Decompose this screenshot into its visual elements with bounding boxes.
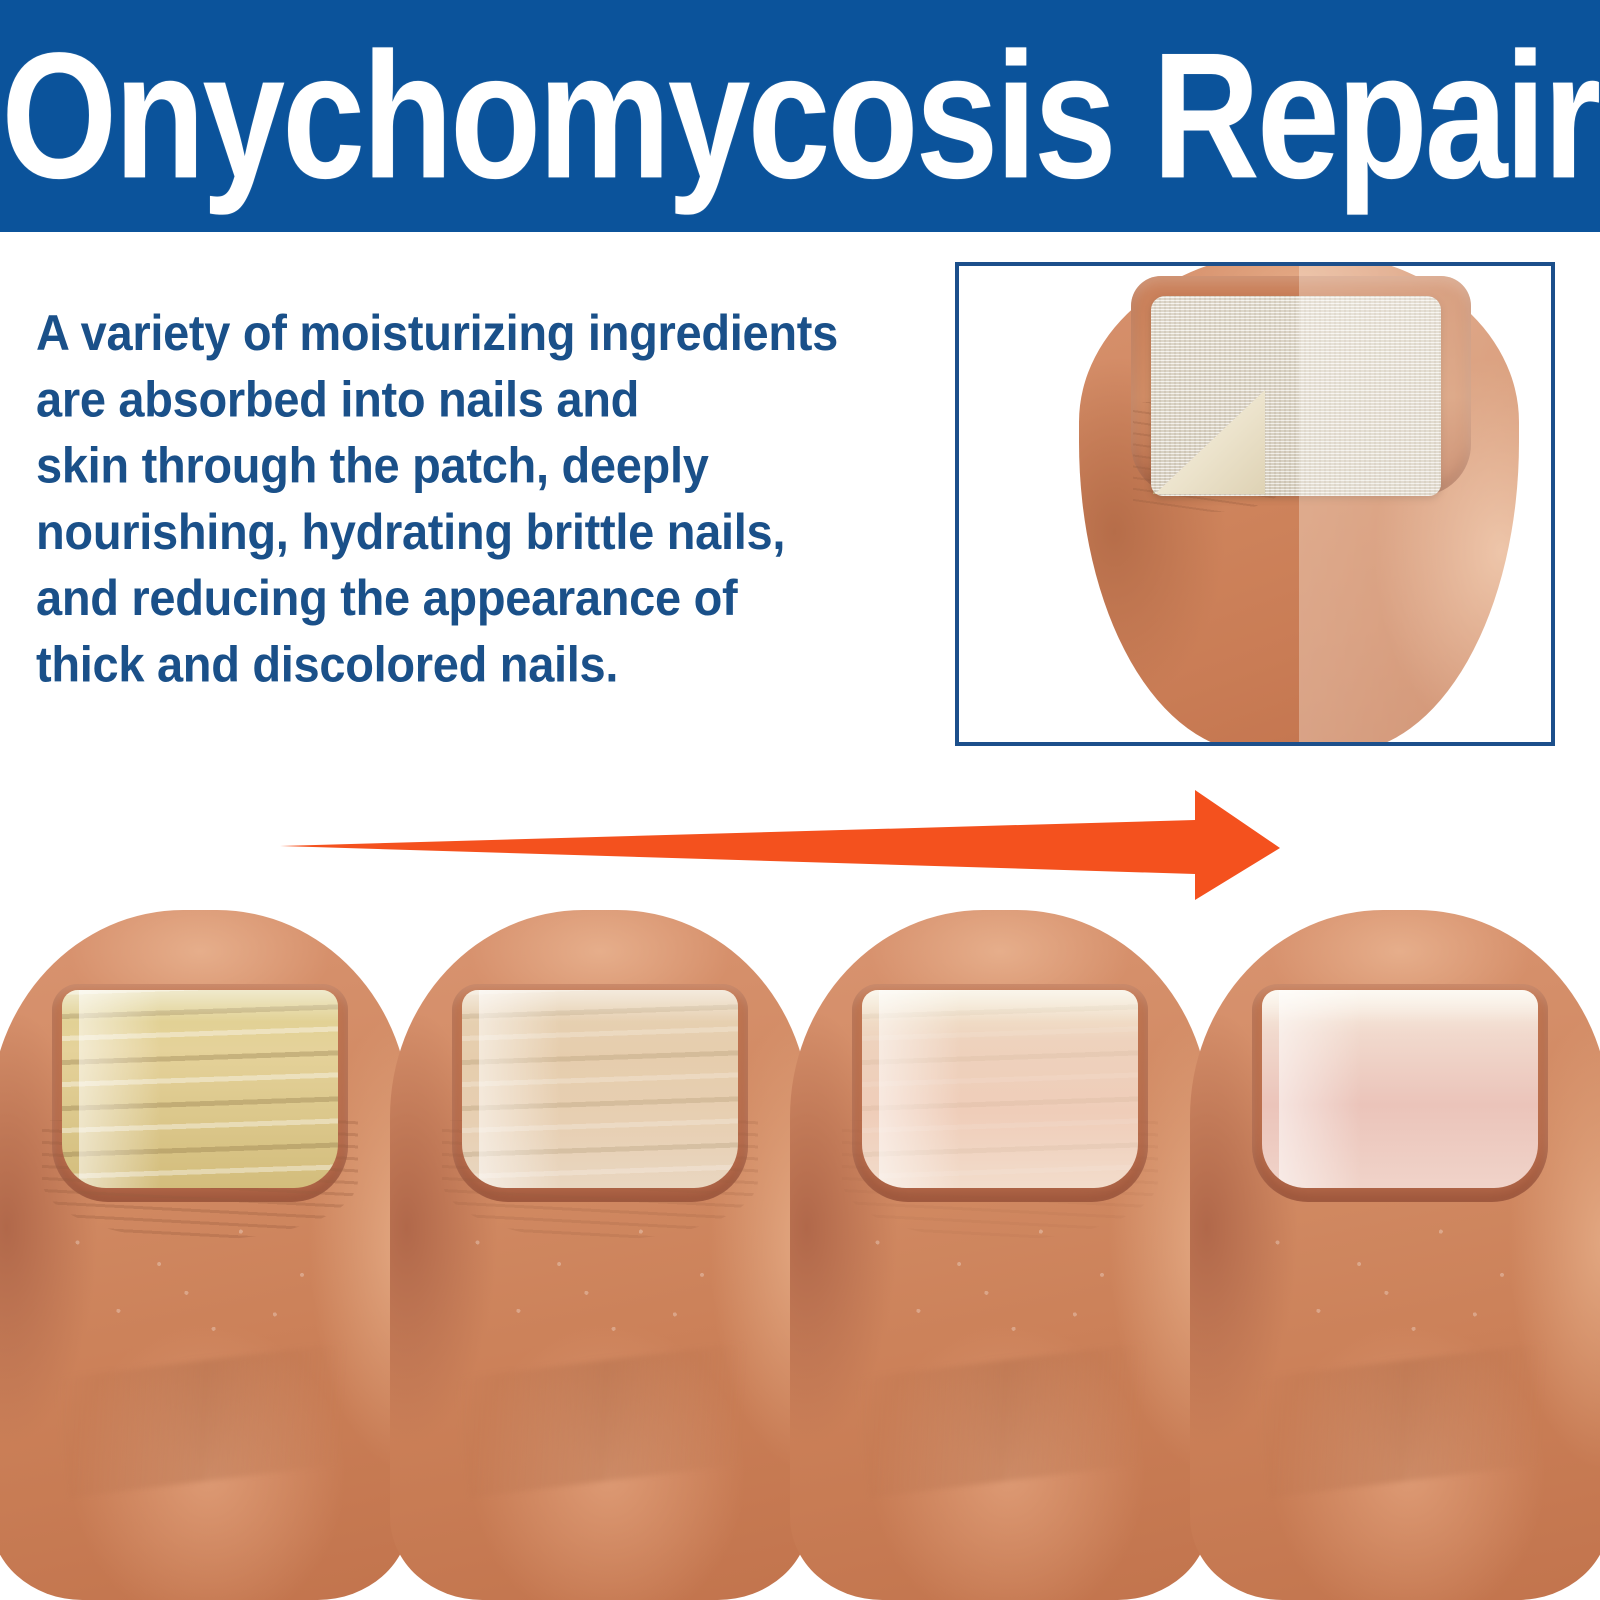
nail-top-edge <box>1262 990 1538 1022</box>
arrow-shape <box>280 790 1280 900</box>
toe-stage-1 <box>0 905 400 1600</box>
progression-arrow <box>280 782 1280 900</box>
header-banner: Onychomycosis Repair <box>0 0 1600 232</box>
before-after-split-overlay <box>1299 262 1555 746</box>
toe-illustration <box>1190 910 1600 1600</box>
progression-arrow-icon <box>280 782 1280 900</box>
description-line-6: thick and discolored nails. <box>36 631 916 697</box>
nail-plate <box>62 990 338 1188</box>
description-line-1: A variety of moisturizing ingredients <box>36 300 916 366</box>
description-line-3: skin through the patch, deeply <box>36 433 916 499</box>
description-block: A variety of moisturizing ingredients ar… <box>36 300 916 675</box>
nail-plate <box>462 990 738 1188</box>
toe-illustration <box>0 910 410 1600</box>
toe-illustration <box>390 910 810 1600</box>
nail-plate <box>1262 990 1538 1188</box>
nail-top-edge <box>62 990 338 1022</box>
toe-stage-4 <box>1200 905 1600 1600</box>
description-line-2: are absorbed into nails and <box>36 366 916 432</box>
description-line-4: nourishing, hydrating brittle nails, <box>36 499 916 565</box>
toe-stage-3 <box>800 905 1200 1600</box>
description-line-5: and reducing the appearance of <box>36 565 916 631</box>
description-text: A variety of moisturizing ingredients ar… <box>36 300 916 698</box>
toe-comparison-strip <box>0 905 1600 1600</box>
toenail-with-patch-illustration <box>1079 262 1555 746</box>
toe-illustration <box>790 910 1210 1600</box>
inset-image-frame <box>955 262 1555 746</box>
nail-top-edge <box>862 990 1138 1022</box>
toe-stage-2 <box>400 905 800 1600</box>
nail-top-edge <box>462 990 738 1022</box>
page-title: Onychomycosis Repair <box>2 26 1599 205</box>
nail-plate <box>862 990 1138 1188</box>
